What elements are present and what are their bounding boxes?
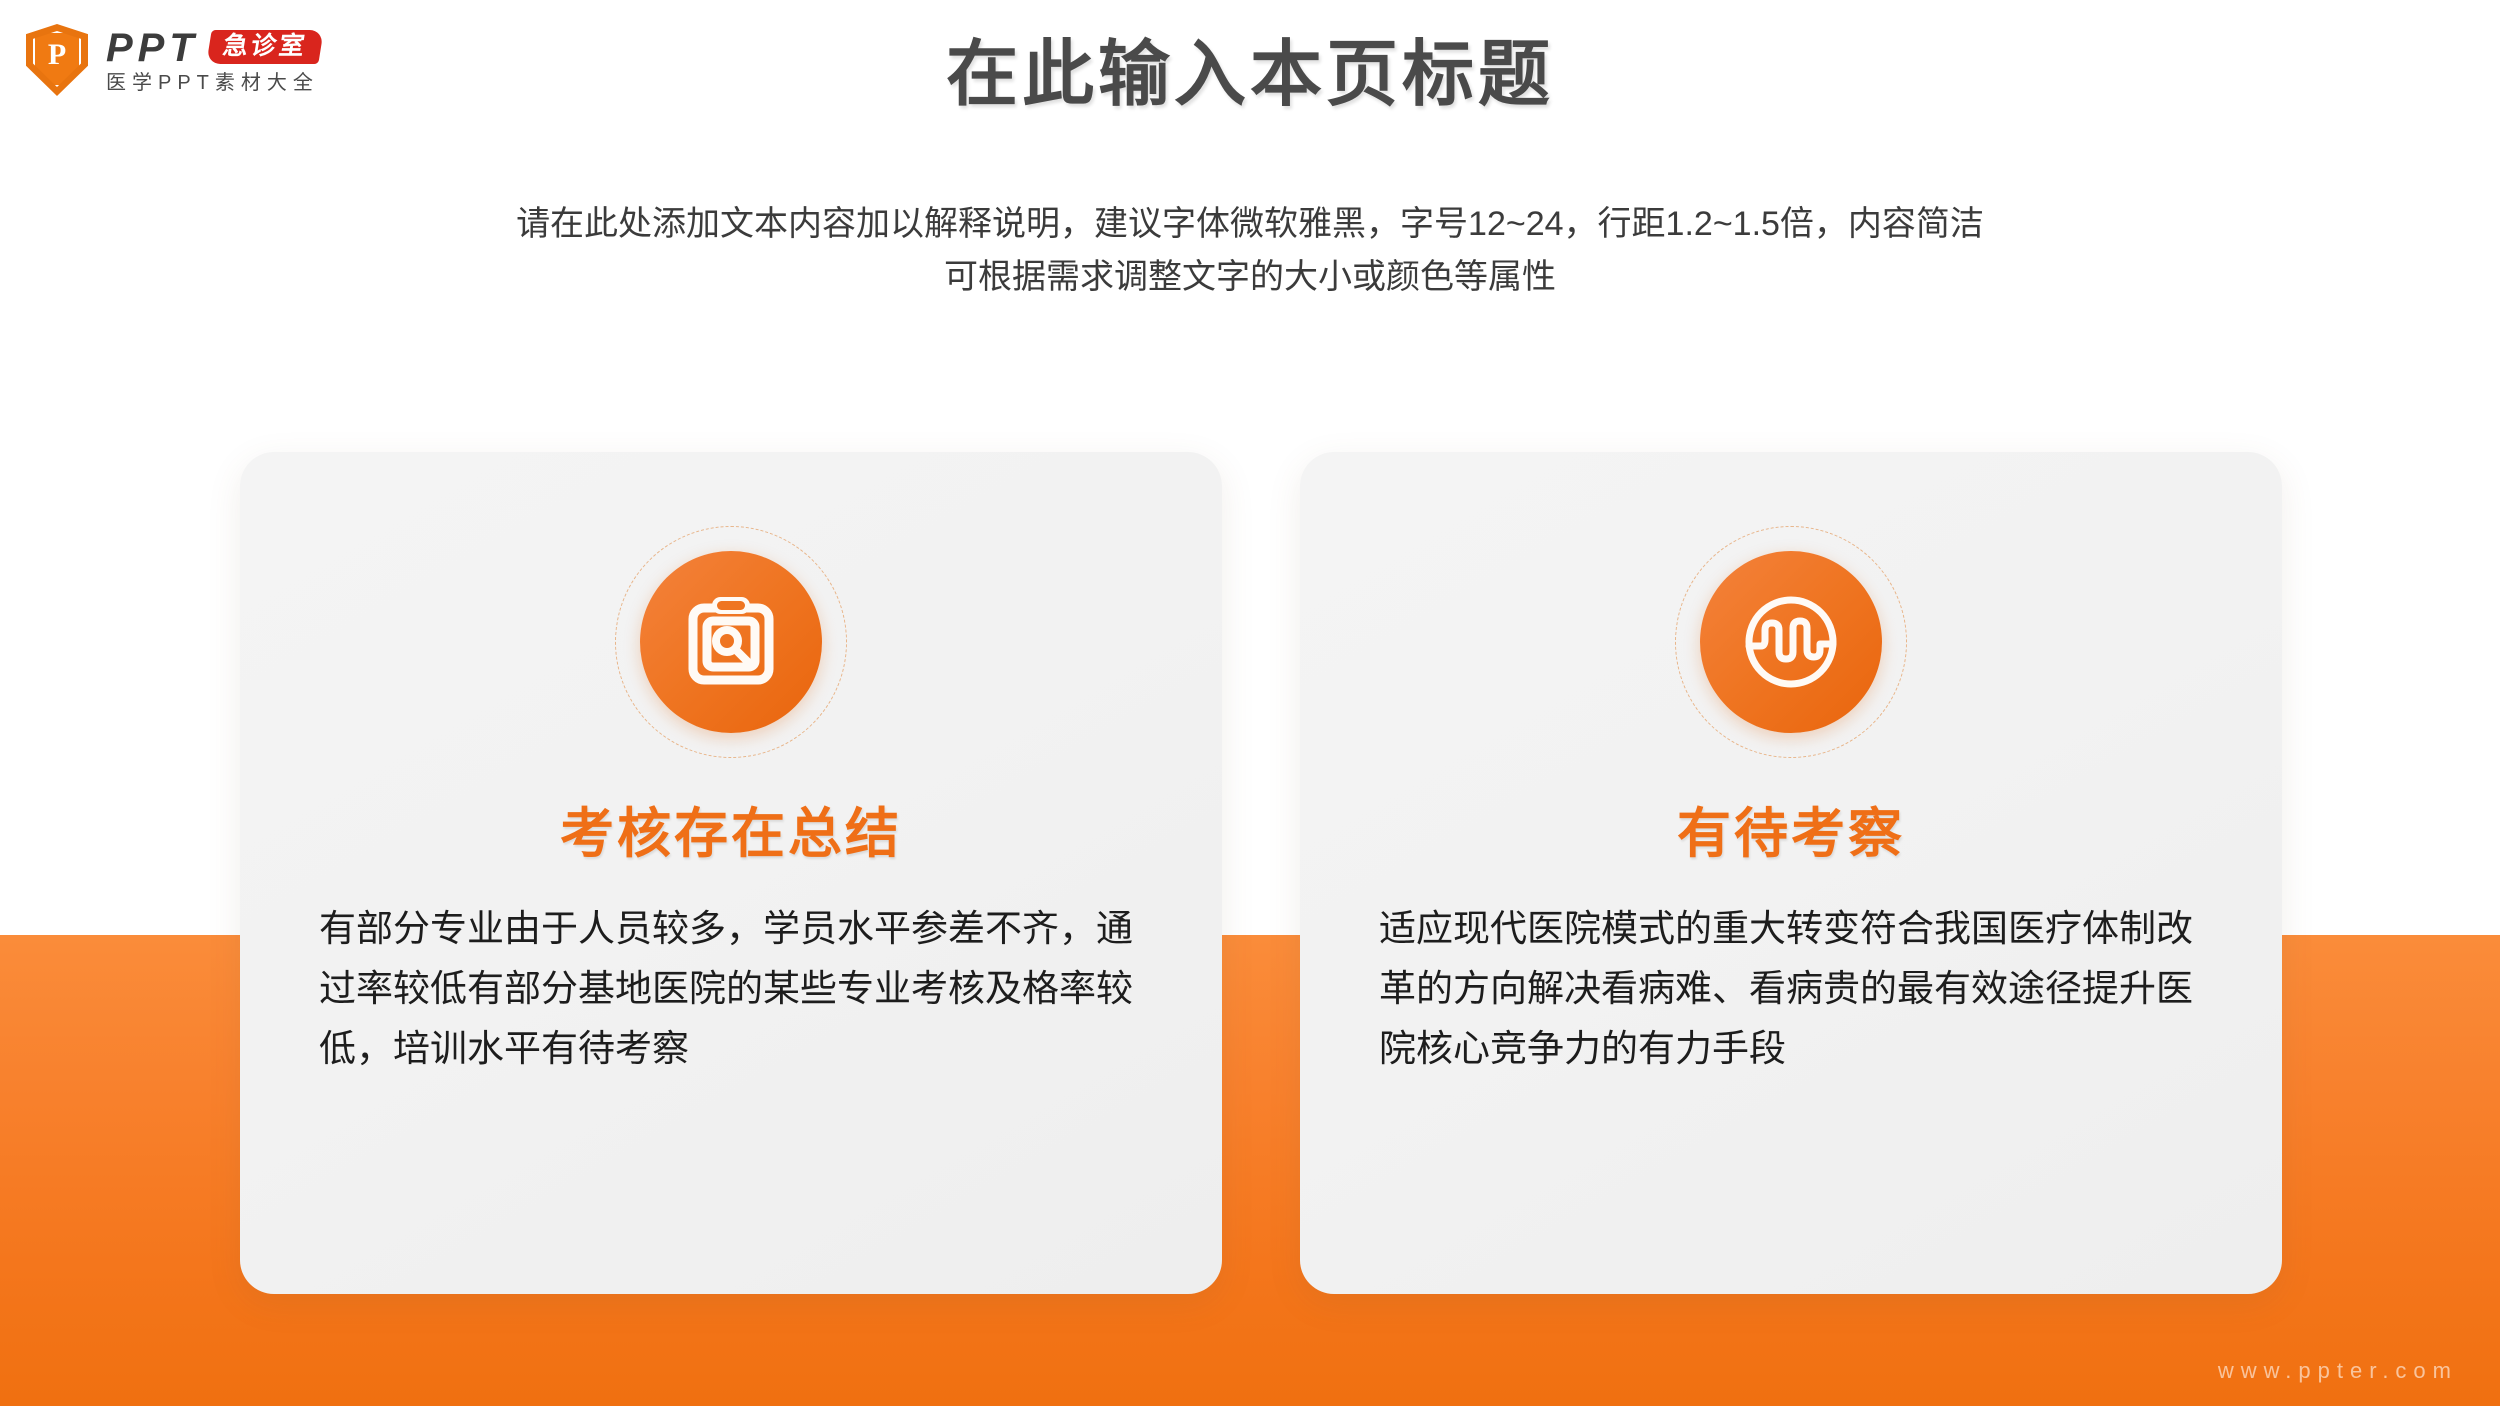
- page-subtitle: 请在此处添加文本内容加以解释说明，建议字体微软雅黑，字号12~24，行距1.2~…: [0, 198, 2500, 303]
- clipboard-search-icon: [640, 551, 822, 733]
- card-1-heading: 考核存在总结: [560, 802, 902, 867]
- icon-dashed-ring: [1675, 526, 1907, 758]
- card-2-body: 适应现代医院模式的重大转变符合我国医疗体制改革的方向解决看病难、看病贵的最有效途…: [1379, 899, 2203, 1079]
- page-title: 在此输入本页标题: [0, 30, 2500, 120]
- icon-dashed-ring: [615, 526, 847, 758]
- page-subtitle-line-1: 请在此处添加文本内容加以解释说明，建议字体微软雅黑，字号12~24，行距1.2~…: [0, 198, 2500, 251]
- content-card-1[interactable]: 考核存在总结 有部分专业由于人员较多，学员水平参差不齐，通过率较低有部分基地医院…: [240, 452, 1222, 1294]
- content-card-2[interactable]: 有待考察 适应现代医院模式的重大转变符合我国医疗体制改革的方向解决看病难、看病贵…: [1300, 452, 2282, 1294]
- card-2-heading: 有待考察: [1677, 802, 1905, 867]
- card-1-body: 有部分专业由于人员较多，学员水平参差不齐，通过率较低有部分基地医院的某些专业考核…: [319, 899, 1143, 1079]
- heartbeat-circle-icon: [1700, 551, 1882, 733]
- footer-watermark: www.ppter.com: [2218, 1358, 2458, 1384]
- page-subtitle-line-2: 可根据需求调整文字的大小或颜色等属性: [0, 251, 2500, 304]
